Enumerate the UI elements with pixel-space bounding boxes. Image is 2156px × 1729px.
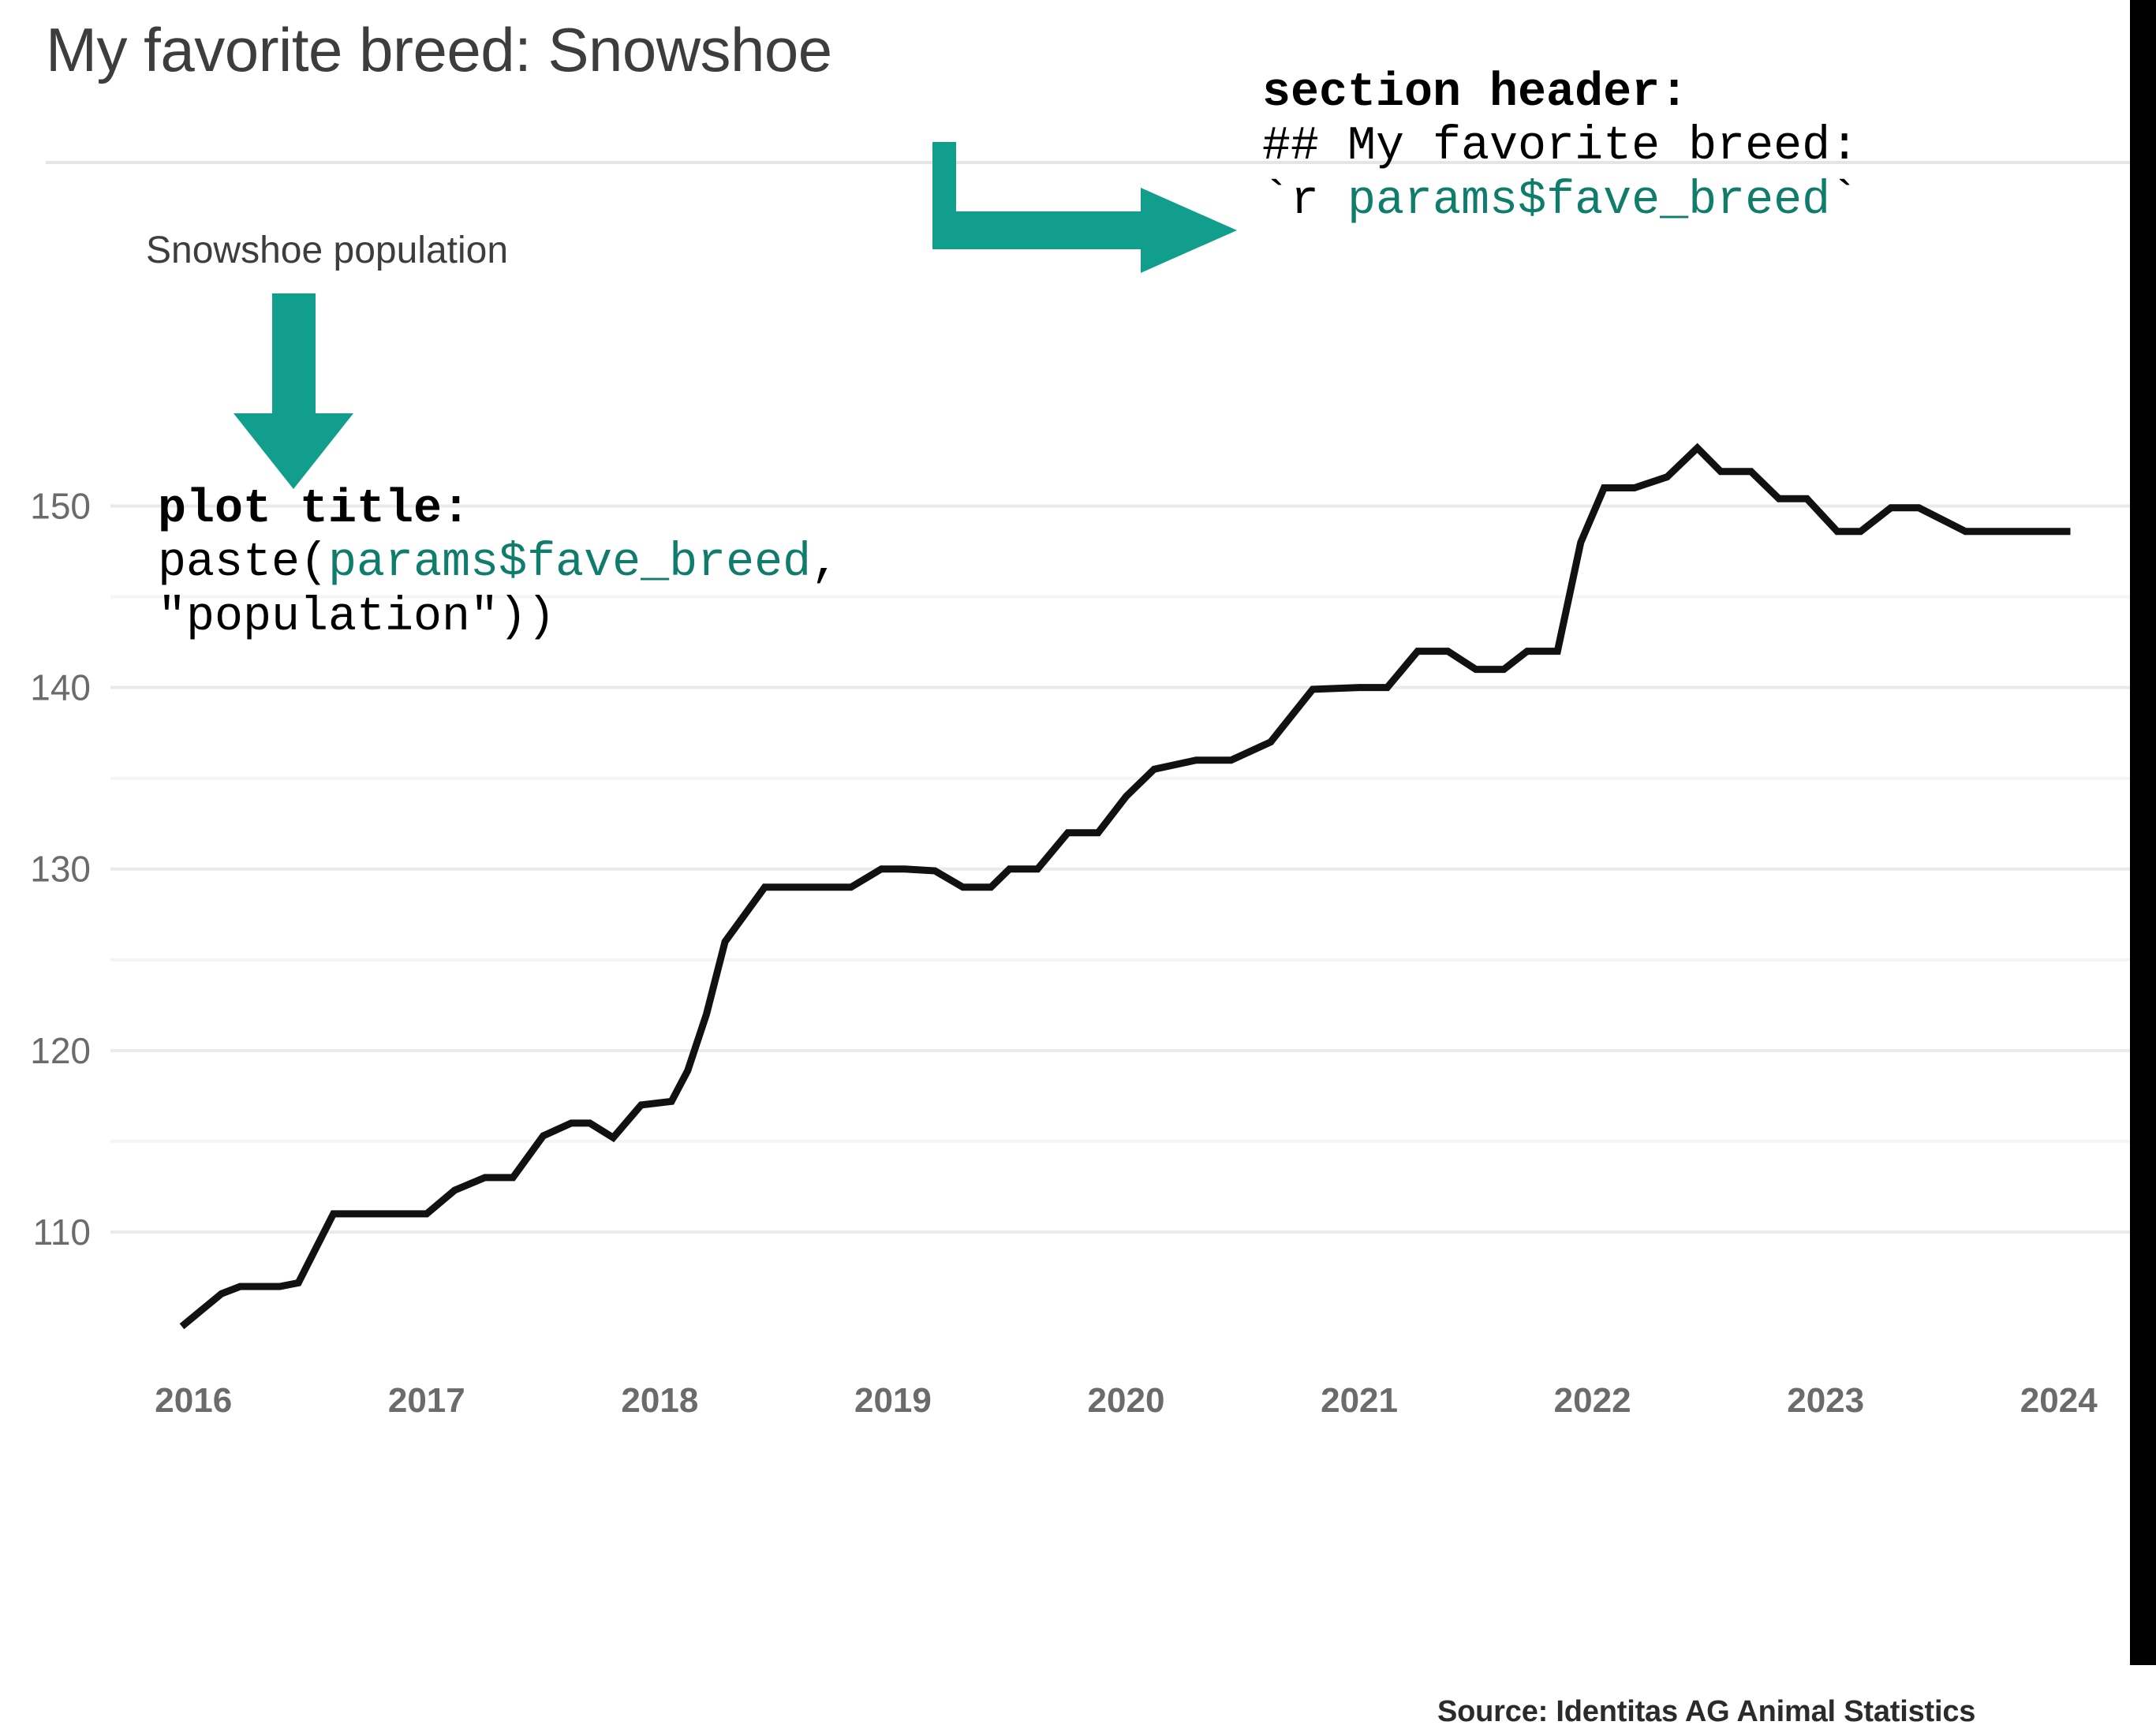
x-tick-label: 2018 <box>621 1381 698 1420</box>
x-tick-label: 2017 <box>388 1381 465 1420</box>
page-title: My favorite breed: Snowshoe <box>46 14 832 86</box>
plot-title-annotation-label: plot title: <box>158 483 470 536</box>
y-tick-label: 140 <box>30 667 91 708</box>
x-tick-label: 2024 <box>2020 1381 2098 1420</box>
plot-title-annotation-line1-pre: paste( <box>158 536 328 590</box>
section-header-annotation-line2-pre: `r <box>1262 174 1347 228</box>
x-tick-label: 2023 <box>1787 1381 1864 1420</box>
x-tick-label: 2019 <box>854 1381 932 1420</box>
plot-title-annotation-line2: "population")) <box>158 591 555 644</box>
x-axis-tick-labels: 201620172018201920202021202220232024 <box>155 1381 2098 1420</box>
source-caption: Source: Identitas AG Animal Statistics <box>1437 1695 1975 1729</box>
y-axis-tick-labels: 110120130140150 <box>30 486 91 1253</box>
right-edge-band <box>2130 0 2156 1665</box>
section-header-annotation: section header: ## My favorite breed: `r… <box>1262 66 1859 228</box>
y-tick-label: 150 <box>30 486 91 527</box>
section-header-annotation-line1: ## My favorite breed: <box>1262 120 1859 174</box>
x-tick-label: 2020 <box>1088 1381 1165 1420</box>
section-header-annotation-line2-post: ` <box>1830 174 1859 228</box>
right-elbow-arrow-icon <box>931 142 1239 300</box>
section-header-annotation-line2-code: params$fave_breed <box>1347 174 1830 228</box>
x-tick-label: 2022 <box>1554 1381 1631 1420</box>
x-tick-label: 2021 <box>1321 1381 1398 1420</box>
down-arrow-icon <box>229 293 363 491</box>
y-tick-label: 130 <box>30 849 91 890</box>
plot-title-annotation-line1-post: , <box>811 536 839 590</box>
plot-title-annotation-line1-code: params$fave_breed <box>328 536 811 590</box>
section-header-annotation-label: section header: <box>1262 66 1688 120</box>
y-tick-label: 120 <box>30 1030 91 1071</box>
plot-title-annotation: plot title: paste(params$fave_breed, "po… <box>158 483 839 644</box>
y-tick-label: 110 <box>33 1212 91 1253</box>
x-tick-label: 2016 <box>155 1381 232 1420</box>
